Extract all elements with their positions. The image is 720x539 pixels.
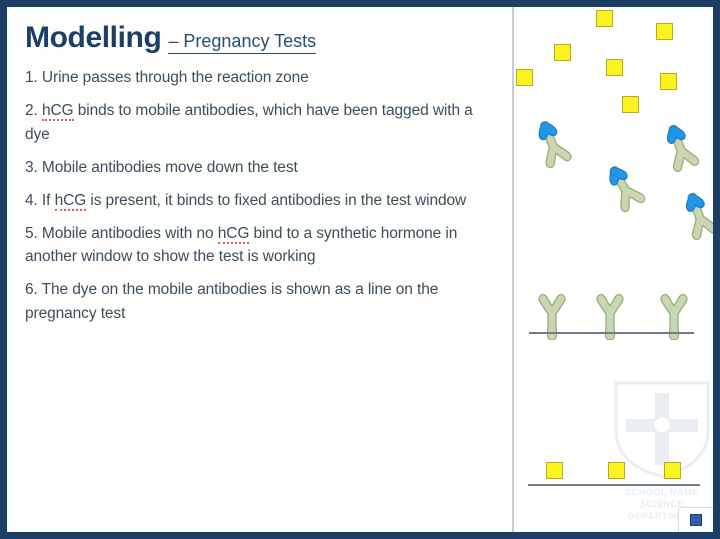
square-glyph-icon xyxy=(690,514,702,526)
step-text-2: 2. hCG binds to mobile antibodies, which… xyxy=(25,99,485,146)
step-text-5: 5. Mobile antibodies with no hCG bind to… xyxy=(25,222,485,269)
results-window-line xyxy=(529,332,694,334)
step-text-fragment: 6. The dye on the mobile antibodies is s… xyxy=(25,281,438,322)
zone-label-column: Reaction Zone Results Window Control Win… xyxy=(481,7,512,532)
step-text-fragment: binds to mobile antibodies, which have b… xyxy=(25,102,473,143)
tagged-mobile-antibody xyxy=(523,110,581,178)
steps-list: 1. Urine passes through the reaction zon… xyxy=(25,66,485,325)
step-text-fragment: 1. Urine passes through the reaction zon… xyxy=(25,69,309,86)
tagged-mobile-antibody xyxy=(592,153,655,222)
step-text-fragment: 5. Mobile antibodies with no xyxy=(25,225,218,242)
step-text-4: 4. If hCG is present, it binds to fixed … xyxy=(25,189,485,213)
text-pane: Modelling – Pregnancy Tests 1. Urine pas… xyxy=(7,7,499,532)
corner-control-button[interactable] xyxy=(678,507,714,533)
zone-label-reaction-zone: Reaction Zone xyxy=(481,67,512,83)
zone-label-results-window: Results Window xyxy=(481,297,512,313)
fixed-antibody xyxy=(532,288,572,345)
bound-dye-square xyxy=(546,462,563,479)
step-text-fragment: 4. If xyxy=(25,192,55,209)
test-strip-diagram: SCHOOL NAME SCIENCE DEPARTMENT xyxy=(514,7,720,532)
free-dye-square xyxy=(660,73,677,90)
free-dye-square xyxy=(516,69,533,86)
slide-title-row: Modelling – Pregnancy Tests xyxy=(25,21,485,55)
page-title: Modelling xyxy=(25,21,161,55)
bound-dye-square xyxy=(664,462,681,479)
free-dye-square xyxy=(596,10,613,27)
shield-icon xyxy=(610,379,714,479)
fixed-antibody xyxy=(654,288,694,345)
step-text-fragment: 2. xyxy=(25,102,42,119)
spellcheck-flagged-word: hCG xyxy=(42,102,74,121)
bound-dye-square xyxy=(608,462,625,479)
tagged-mobile-antibody xyxy=(651,114,708,181)
step-text-1: 1. Urine passes through the reaction zon… xyxy=(25,66,485,90)
tagged-mobile-antibody xyxy=(670,182,720,249)
free-dye-square xyxy=(656,23,673,40)
step-text-3: 3. Mobile antibodies move down the test xyxy=(25,156,485,180)
free-dye-square xyxy=(606,59,623,76)
slide-canvas: Modelling – Pregnancy Tests 1. Urine pas… xyxy=(0,0,720,539)
free-dye-square xyxy=(622,96,639,113)
spellcheck-flagged-word: hCG xyxy=(55,192,87,211)
watermark-line-1: SCHOOL NAME xyxy=(610,486,714,498)
school-crest-watermark: SCHOOL NAME SCIENCE DEPARTMENT xyxy=(610,379,714,522)
control-window-line xyxy=(528,484,700,486)
step-text-6: 6. The dye on the mobile antibodies is s… xyxy=(25,278,485,325)
free-dye-square xyxy=(554,44,571,61)
spellcheck-flagged-word: hCG xyxy=(218,225,250,244)
step-text-fragment: is present, it binds to fixed antibodies… xyxy=(86,192,466,209)
fixed-antibody xyxy=(590,288,630,345)
step-text-fragment: 3. Mobile antibodies move down the test xyxy=(25,159,298,176)
zone-label-control-window: Control Winder xyxy=(481,442,512,458)
page-subtitle: – Pregnancy Tests xyxy=(168,31,316,54)
